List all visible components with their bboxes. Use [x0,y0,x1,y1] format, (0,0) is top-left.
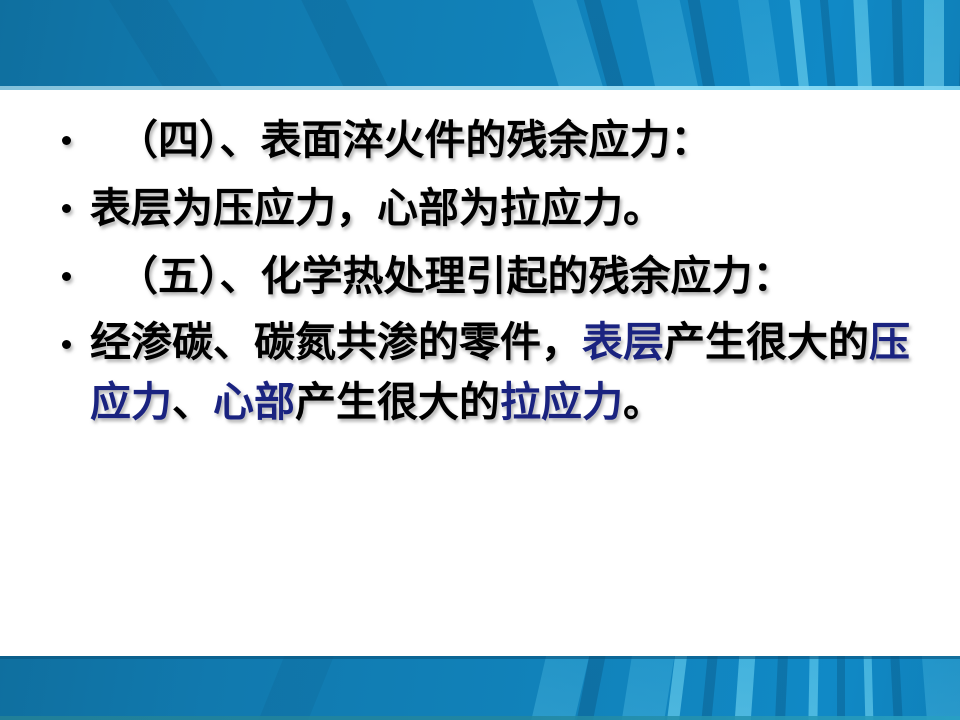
bullet-dot-icon [62,272,71,281]
banner-top-edge-bottom-banner [0,656,960,659]
bullet-4-run-1: 经渗碳、碳氮共渗的零件， [90,318,582,366]
bullet-item-4: 经渗碳、碳氮共渗的零件，表层产生很大的压应力、心部产生很大的拉应力。 [40,312,920,432]
bottom-decorative-banner [0,656,960,720]
bullet-item-1: （四）、表面淬火件的残余应力： [40,108,920,172]
bullet-4-run-9: 。 [623,378,664,426]
bullet-4-run-5: 、 [172,378,213,426]
bullet-4-run-8-emphasis: 拉应力 [500,378,623,426]
top-decorative-banner [0,0,960,90]
slide-canvas: （四）、表面淬火件的残余应力： 表层为压应力，心部为拉应力。 （五）、化学热处理… [0,0,960,720]
bullet-4-run-6-emphasis: 心部 [213,378,295,426]
bullet-4-run-2-emphasis: 表层 [582,318,664,366]
bullet-item-2: 表层为压应力，心部为拉应力。 [40,176,920,240]
bullet-text-1: （四）、表面淬火件的残余应力： [117,116,712,164]
bullet-dot-icon [62,340,71,349]
bullet-dot-icon [62,204,71,213]
banner-accent-line-bottom [0,716,960,720]
banner-light-rays-bottom [0,656,960,720]
bullet-4-run-3: 产生很大的 [664,318,869,366]
banner-light-rays-top [0,0,960,90]
bullet-4-run-7: 产生很大的 [295,378,500,426]
bullet-item-3: （五）、化学热处理引起的残余应力： [40,244,920,308]
bullet-text-3: （五）、化学热处理引起的残余应力： [117,252,794,300]
bullet-text-2: 表层为压应力，心部为拉应力。 [90,184,664,232]
slide-body-content: （四）、表面淬火件的残余应力： 表层为压应力，心部为拉应力。 （五）、化学热处理… [0,90,960,656]
bullet-dot-icon [62,136,71,145]
